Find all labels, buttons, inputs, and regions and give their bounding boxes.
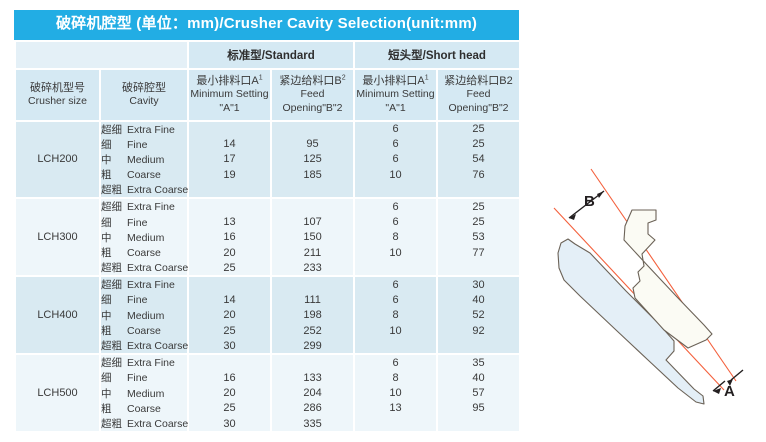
cavity-label-cn: 粗 [101, 401, 127, 416]
cavity-label-en: Medium [127, 310, 164, 322]
cell-crusher-size: LCH300 [15, 198, 100, 276]
superscript-2: 2 [342, 74, 346, 81]
cell-cavity: 中Medium [100, 308, 188, 323]
cavity-label-en: Extra Coarse [127, 340, 188, 352]
cell-standard-feed-opening: 252 [271, 323, 354, 338]
cell-standard-min-setting: 20 [188, 308, 271, 323]
superscript-1: 1 [259, 74, 263, 81]
header-column-row: 破碎机型号 Crusher size 破碎腔型 Cavity 最小排料口A1 M… [15, 69, 520, 121]
cavity-label-en: Coarse [127, 325, 161, 337]
header-blank-cell [15, 42, 188, 69]
cell-shorthead-feed-opening: 35 [437, 354, 520, 370]
cell-cavity: 中Medium [100, 230, 188, 245]
cell-shorthead-feed-opening: 77 [437, 245, 520, 260]
cell-shorthead-min-setting: 8 [354, 308, 437, 323]
cell-standard-min-setting: 14 [188, 292, 271, 307]
cell-standard-min-setting: 20 [188, 245, 271, 260]
cell-standard-feed-opening: 233 [271, 260, 354, 276]
cell-crusher-size: LCH500 [15, 354, 100, 431]
cell-cavity: 超细Extra Fine [100, 121, 188, 137]
header-shorthead-min-setting: 最小排料口A1 Minimum Setting "A"1 [354, 69, 437, 121]
cell-standard-min-setting: 30 [188, 338, 271, 354]
cell-shorthead-min-setting: 8 [354, 230, 437, 245]
cell-standard-min-setting [188, 198, 271, 214]
header-cavity-en: Cavity [101, 95, 187, 108]
cavity-label-en: Fine [127, 294, 147, 306]
header-shorthead-min-setting-en2: "A"1 [355, 102, 436, 115]
cell-standard-feed-opening: 95 [271, 137, 354, 152]
cell-standard-min-setting [188, 182, 271, 198]
cell-shorthead-min-setting: 6 [354, 137, 437, 152]
cell-cavity: 细Fine [100, 137, 188, 152]
cell-standard-min-setting: 25 [188, 401, 271, 416]
cavity-label-en: Medium [127, 388, 164, 400]
cell-standard-min-setting: 16 [188, 370, 271, 385]
cell-cavity: 粗Coarse [100, 323, 188, 338]
dimension-a-arrow-line-2 [731, 370, 743, 380]
cell-cavity: 粗Coarse [100, 245, 188, 260]
cell-cavity: 超粗Extra Coarse [100, 416, 188, 431]
cavity-label-en: Extra Fine [127, 357, 175, 369]
header-shorthead-feed-opening-en2: Opening"B"2 [438, 102, 519, 115]
cell-crusher-size: LCH400 [15, 276, 100, 354]
cavity-label-en: Extra Coarse [127, 262, 188, 274]
cell-standard-feed-opening: 150 [271, 230, 354, 245]
cell-standard-min-setting: 25 [188, 260, 271, 276]
cell-standard-feed-opening [271, 354, 354, 370]
cell-crusher-size: LCH200 [15, 121, 100, 199]
header-crusher-size-en: Crusher size [16, 95, 99, 108]
header-shorthead-feed-opening-cn: 紧边给料口B2 [438, 74, 519, 88]
header-cavity: 破碎腔型 Cavity [100, 69, 188, 121]
table-row: LCH200超细Extra Fine625 [15, 121, 520, 137]
header-shorthead-min-setting-en1: Minimum Setting [355, 88, 436, 101]
cavity-label-cn: 中 [101, 230, 127, 245]
cell-shorthead-feed-opening [437, 338, 520, 354]
cell-shorthead-min-setting [354, 416, 437, 431]
cell-cavity: 细Fine [100, 370, 188, 385]
cavity-label-en: Fine [127, 217, 147, 229]
cell-cavity: 中Medium [100, 385, 188, 400]
header-standard-feed-opening-en1: Feed [272, 88, 353, 101]
header-standard-min-setting: 最小排料口A1 Minimum Setting "A"1 [188, 69, 271, 121]
cell-standard-feed-opening: 107 [271, 214, 354, 229]
cell-standard-feed-opening [271, 198, 354, 214]
cavity-label-en: Extra Coarse [127, 418, 188, 430]
header-shorthead-min-setting-cn: 最小排料口A1 [355, 74, 436, 88]
cavity-label-cn: 细 [101, 215, 127, 230]
cell-shorthead-min-setting: 6 [354, 214, 437, 229]
cavity-label-en: Extra Coarse [127, 184, 188, 196]
table-header: 标准型/Standard 短头型/Short head 破碎机型号 Crushe… [15, 42, 520, 121]
cell-shorthead-feed-opening [437, 416, 520, 431]
cavity-label-cn: 超细 [101, 122, 127, 137]
cavity-label-cn: 粗 [101, 167, 127, 182]
cell-standard-feed-opening: 286 [271, 401, 354, 416]
cavity-label-cn: 粗 [101, 323, 127, 338]
cell-shorthead-feed-opening: 53 [437, 230, 520, 245]
cell-shorthead-min-setting: 6 [354, 292, 437, 307]
cell-shorthead-min-setting: 6 [354, 121, 437, 137]
dimension-b-label: B [584, 193, 595, 210]
cell-standard-feed-opening [271, 121, 354, 137]
cell-cavity: 超细Extra Fine [100, 354, 188, 370]
cell-shorthead-min-setting: 10 [354, 245, 437, 260]
cell-standard-feed-opening: 204 [271, 385, 354, 400]
cavity-label-cn: 细 [101, 137, 127, 152]
cell-cavity: 粗Coarse [100, 401, 188, 416]
cell-standard-feed-opening: 211 [271, 245, 354, 260]
cell-shorthead-min-setting: 10 [354, 323, 437, 338]
table-row: LCH500超细Extra Fine635 [15, 354, 520, 370]
cell-shorthead-min-setting [354, 182, 437, 198]
table-block-lch500: LCH500超细Extra Fine635细Fine16133840中Mediu… [15, 354, 520, 431]
cell-shorthead-feed-opening: 25 [437, 198, 520, 214]
cell-cavity: 粗Coarse [100, 167, 188, 182]
cell-standard-feed-opening [271, 276, 354, 292]
cell-standard-min-setting: 14 [188, 137, 271, 152]
cell-standard-feed-opening: 185 [271, 167, 354, 182]
cell-standard-feed-opening: 299 [271, 338, 354, 354]
cavity-label-cn: 超细 [101, 355, 127, 370]
cell-shorthead-min-setting [354, 260, 437, 276]
cavity-label-en: Coarse [127, 247, 161, 259]
cell-shorthead-feed-opening: 25 [437, 137, 520, 152]
cell-shorthead-min-setting: 6 [354, 152, 437, 167]
cavity-label-en: Fine [127, 372, 147, 384]
cell-cavity: 中Medium [100, 152, 188, 167]
header-standard-feed-opening: 紧边给料口B2 Feed Opening"B"2 [271, 69, 354, 121]
superscript-1-alt: 1 [425, 74, 429, 81]
cavity-label-cn: 超粗 [101, 416, 127, 431]
cell-standard-min-setting: 25 [188, 323, 271, 338]
header-group-row: 标准型/Standard 短头型/Short head [15, 42, 520, 69]
cell-shorthead-min-setting: 6 [354, 276, 437, 292]
cell-standard-min-setting: 16 [188, 230, 271, 245]
cell-shorthead-feed-opening [437, 182, 520, 198]
cavity-label-en: Extra Fine [127, 279, 175, 291]
table-row: LCH300超细Extra Fine625 [15, 198, 520, 214]
header-group-standard: 标准型/Standard [188, 42, 354, 69]
table-block-lch200: LCH200超细Extra Fine625细Fine1495625中Medium… [15, 121, 520, 199]
cavity-label-en: Medium [127, 154, 164, 166]
table-block-lch400: LCH400超细Extra Fine630细Fine14111640中Mediu… [15, 276, 520, 354]
cell-shorthead-feed-opening: 52 [437, 308, 520, 323]
cell-standard-feed-opening: 111 [271, 292, 354, 307]
header-crusher-size-cn: 破碎机型号 [16, 81, 99, 95]
cell-shorthead-min-setting: 8 [354, 370, 437, 385]
header-standard-min-setting-en1: Minimum Setting [189, 88, 270, 101]
header-standard-feed-opening-cn: 紧边给料口B2 [272, 74, 353, 88]
cavity-label-en: Medium [127, 232, 164, 244]
dimension-a-label: A [724, 383, 735, 400]
cell-cavity: 超粗Extra Coarse [100, 260, 188, 276]
cell-cavity: 超粗Extra Coarse [100, 338, 188, 354]
cell-standard-feed-opening: 335 [271, 416, 354, 431]
cell-standard-feed-opening: 133 [271, 370, 354, 385]
cell-cavity: 超细Extra Fine [100, 198, 188, 214]
header-standard-min-setting-en2: "A"1 [189, 102, 270, 115]
cavity-label-en: Coarse [127, 169, 161, 181]
cavity-label-cn: 粗 [101, 245, 127, 260]
cell-shorthead-feed-opening: 30 [437, 276, 520, 292]
crusher-cavity-diagram: B A [528, 148, 766, 442]
cavity-label-en: Extra Fine [127, 124, 175, 136]
cell-shorthead-feed-opening: 40 [437, 292, 520, 307]
table-row: LCH400超细Extra Fine630 [15, 276, 520, 292]
cell-standard-min-setting [188, 276, 271, 292]
cavity-label-en: Extra Fine [127, 201, 175, 213]
cell-cavity: 超细Extra Fine [100, 276, 188, 292]
cell-standard-feed-opening: 198 [271, 308, 354, 323]
cavity-label-cn: 细 [101, 292, 127, 307]
cell-standard-min-setting [188, 121, 271, 137]
cavity-label-cn: 中 [101, 152, 127, 167]
cell-shorthead-min-setting: 10 [354, 167, 437, 182]
cell-shorthead-feed-opening: 25 [437, 214, 520, 229]
cavity-label-cn: 超粗 [101, 260, 127, 275]
cell-standard-min-setting: 13 [188, 214, 271, 229]
header-standard-feed-opening-en2: Opening"B"2 [272, 102, 353, 115]
cell-shorthead-feed-opening: 95 [437, 401, 520, 416]
header-cavity-cn: 破碎腔型 [101, 81, 187, 95]
cavity-label-cn: 超粗 [101, 338, 127, 353]
dimension-a-arrowhead-1 [713, 388, 721, 394]
cell-shorthead-feed-opening: 54 [437, 152, 520, 167]
cell-shorthead-feed-opening: 76 [437, 167, 520, 182]
cell-shorthead-min-setting: 6 [354, 354, 437, 370]
cell-standard-feed-opening: 125 [271, 152, 354, 167]
cavity-label-en: Coarse [127, 403, 161, 415]
cell-shorthead-feed-opening: 57 [437, 385, 520, 400]
page-title: 破碎机腔型 (单位：mm)/Crusher Cavity Selection(u… [14, 10, 519, 40]
header-shorthead-feed-opening-en1: Feed [438, 88, 519, 101]
cell-shorthead-min-setting [354, 338, 437, 354]
cell-shorthead-feed-opening [437, 260, 520, 276]
cell-shorthead-min-setting: 10 [354, 385, 437, 400]
cell-shorthead-feed-opening: 25 [437, 121, 520, 137]
header-shorthead-feed-opening: 紧边给料口B2 Feed Opening"B"2 [437, 69, 520, 121]
cell-cavity: 超粗Extra Coarse [100, 182, 188, 198]
cavity-label-cn: 超细 [101, 199, 127, 214]
cell-standard-feed-opening [271, 182, 354, 198]
header-standard-min-setting-cn: 最小排料口A1 [189, 74, 270, 88]
header-crusher-size: 破碎机型号 Crusher size [15, 69, 100, 121]
cell-cavity: 细Fine [100, 214, 188, 229]
crusher-cavity-table: 标准型/Standard 短头型/Short head 破碎机型号 Crushe… [14, 42, 521, 432]
dimension-b-arrowhead-end [597, 191, 604, 198]
cavity-label-en: Fine [127, 139, 147, 151]
cell-cavity: 细Fine [100, 292, 188, 307]
header-group-shorthead: 短头型/Short head [354, 42, 520, 69]
cell-standard-min-setting: 17 [188, 152, 271, 167]
spec-table-container: 破碎机腔型 (单位：mm)/Crusher Cavity Selection(u… [14, 10, 519, 431]
cavity-label-cn: 超细 [101, 277, 127, 292]
cell-shorthead-min-setting: 13 [354, 401, 437, 416]
cavity-label-cn: 超粗 [101, 182, 127, 197]
table-block-lch300: LCH300超细Extra Fine625细Fine13107625中Mediu… [15, 198, 520, 276]
cell-shorthead-min-setting: 6 [354, 198, 437, 214]
cell-standard-min-setting: 20 [188, 385, 271, 400]
cell-standard-min-setting: 19 [188, 167, 271, 182]
cavity-label-cn: 中 [101, 308, 127, 323]
cell-standard-min-setting [188, 354, 271, 370]
cell-standard-min-setting: 30 [188, 416, 271, 431]
cavity-label-cn: 中 [101, 386, 127, 401]
cell-shorthead-feed-opening: 92 [437, 323, 520, 338]
cell-shorthead-feed-opening: 40 [437, 370, 520, 385]
cavity-label-cn: 细 [101, 370, 127, 385]
